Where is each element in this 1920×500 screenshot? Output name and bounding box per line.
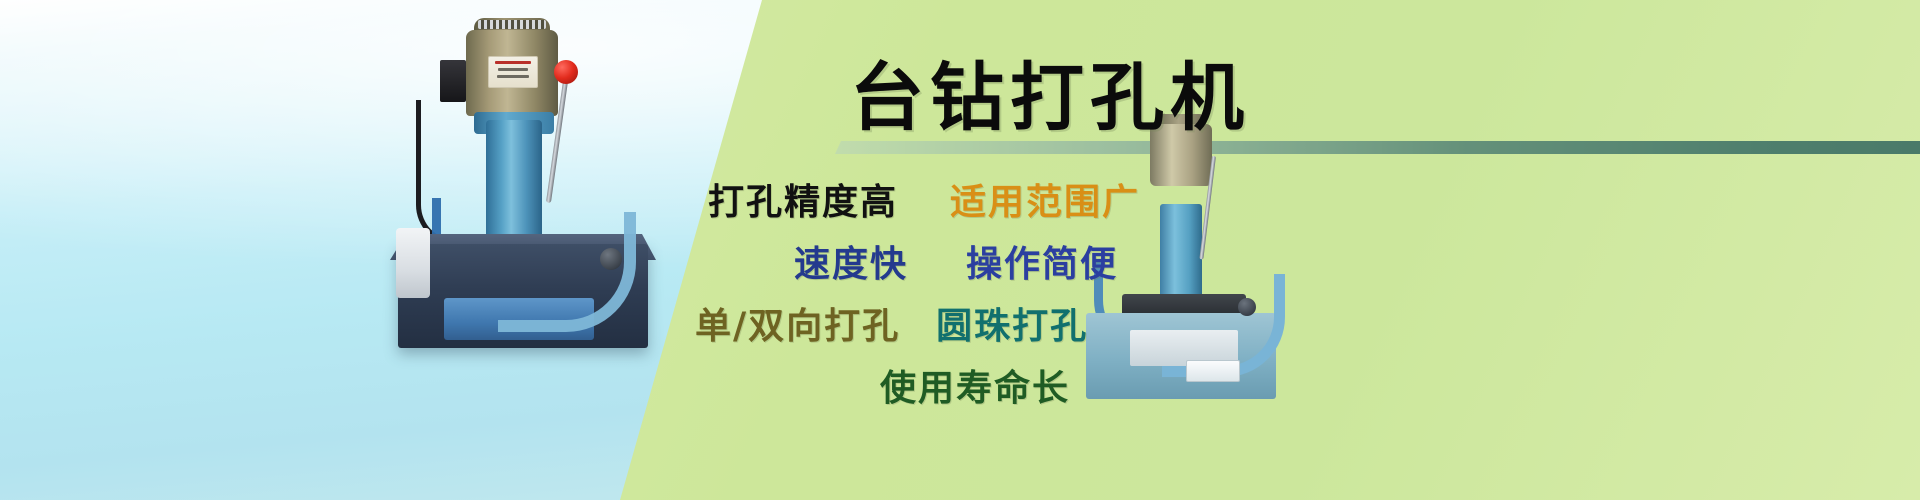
- feature-long-lifespan: 使用寿命长: [880, 359, 1070, 411]
- feature-application-range: 适用范围广: [950, 173, 1140, 225]
- banner-content: 台钻打孔机 打孔精度高 适用范围广 速度快 操作简便 单/双向打孔 圆珠打孔 使…: [0, 0, 1920, 500]
- feature-bead-drilling: 圆珠打孔: [936, 297, 1088, 349]
- product-banner: 台钻打孔机 打孔精度高 适用范围广 速度快 操作简便 单/双向打孔 圆珠打孔 使…: [0, 0, 1920, 500]
- feature-accuracy: 打孔精度高: [708, 173, 898, 225]
- feature-row-4: 使用寿命长: [680, 354, 1440, 416]
- feature-row-1: 打孔精度高 适用范围广: [680, 168, 1440, 230]
- feature-list: 打孔精度高 适用范围广 速度快 操作简便 单/双向打孔 圆珠打孔 使用寿命长: [680, 168, 1440, 416]
- feature-row-3: 单/双向打孔 圆珠打孔: [680, 292, 1440, 354]
- feature-easy-operation: 操作简便: [966, 235, 1118, 287]
- feature-speed: 速度快: [794, 235, 908, 287]
- page-title: 台钻打孔机: [700, 38, 1400, 145]
- feature-single-double-drilling: 单/双向打孔: [695, 297, 900, 349]
- feature-row-2: 速度快 操作简便: [680, 230, 1440, 292]
